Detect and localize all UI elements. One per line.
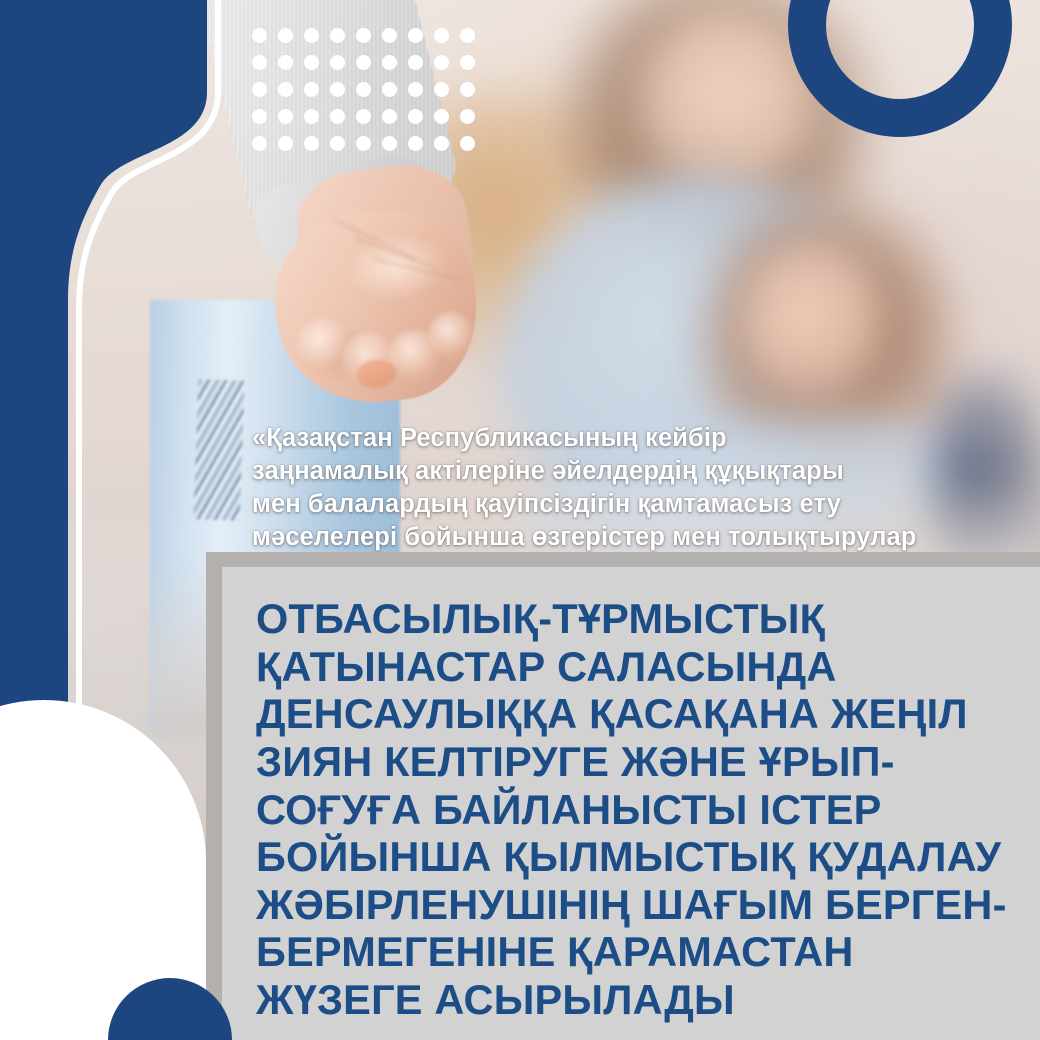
- grid-dot: [278, 28, 293, 43]
- grid-dot: [330, 82, 345, 97]
- grid-dot: [434, 82, 449, 97]
- grid-dot: [356, 28, 371, 43]
- grid-dot: [356, 82, 371, 97]
- grid-dot: [278, 136, 293, 151]
- grid-dot: [408, 136, 423, 151]
- grid-dot: [408, 82, 423, 97]
- grid-dot: [278, 109, 293, 124]
- grid-dot: [434, 55, 449, 70]
- grid-dot: [460, 55, 475, 70]
- grid-dot: [252, 28, 267, 43]
- grid-dot: [434, 109, 449, 124]
- grid-dot: [408, 28, 423, 43]
- grid-dot: [356, 109, 371, 124]
- grid-dot: [382, 136, 397, 151]
- grid-dot: [278, 82, 293, 97]
- grid-dot: [330, 109, 345, 124]
- grid-dot: [356, 136, 371, 151]
- grid-dot: [434, 28, 449, 43]
- grid-dot: [252, 55, 267, 70]
- grid-dot: [356, 55, 371, 70]
- grid-dot: [252, 109, 267, 124]
- grid-dot: [434, 136, 449, 151]
- grid-dot: [252, 136, 267, 151]
- grid-dot: [408, 55, 423, 70]
- grid-dot: [382, 55, 397, 70]
- grid-dot: [460, 136, 475, 151]
- grid-dot: [304, 28, 319, 43]
- grid-dot: [330, 55, 345, 70]
- grid-dot: [460, 82, 475, 97]
- grid-dot: [460, 28, 475, 43]
- grid-dot: [304, 82, 319, 97]
- grid-dot: [304, 136, 319, 151]
- grid-dot: [330, 136, 345, 151]
- grid-dot: [252, 82, 267, 97]
- grid-dot: [460, 109, 475, 124]
- grid-dot: [382, 82, 397, 97]
- poster-canvas: «Қазақстан Республикасының кейбір заңнам…: [0, 0, 1040, 1040]
- blue-s-curve-panel: [0, 0, 207, 712]
- headline-text: ОТБАСЫЛЫҚ-ТҰРМЫСТЫҚ ҚАТЫНАСТАР САЛАСЫНДА…: [256, 595, 1012, 1024]
- content-card: ОТБАСЫЛЫҚ-ТҰРМЫСТЫҚ ҚАТЫНАСТАР САЛАСЫНДА…: [222, 567, 1040, 1040]
- grid-dot: [330, 28, 345, 43]
- grid-dot: [382, 109, 397, 124]
- grid-dot: [278, 55, 293, 70]
- grid-dot: [408, 109, 423, 124]
- grid-dot: [304, 109, 319, 124]
- grid-dot: [304, 55, 319, 70]
- grid-dot: [382, 28, 397, 43]
